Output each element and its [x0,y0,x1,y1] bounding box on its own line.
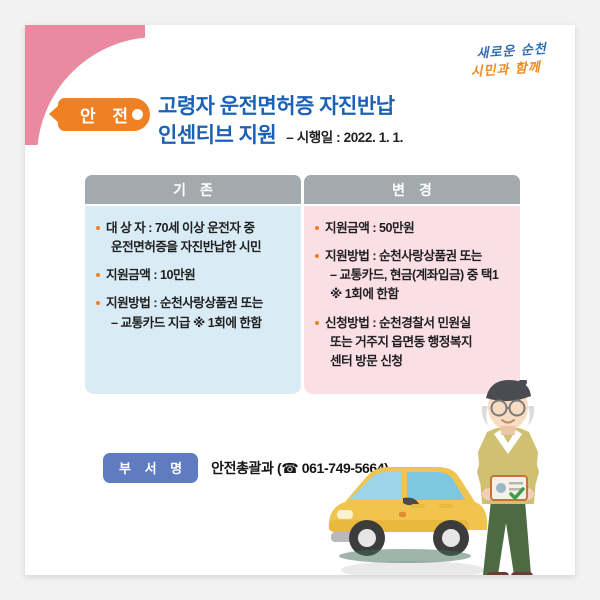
effective-date: – 시행일 : 2022. 1. 1. [286,126,403,146]
bullet-line: 지원방법 : 순천사랑상품권 또는 [106,296,263,310]
bullet-line: 지원금액 : 10만원 [106,268,195,282]
list-item: 대 상 자 : 70세 이상 운전자 중 운전면허증을 자진반납한 시민 [95,219,292,257]
person-icon [477,380,539,575]
city-slogan-logo: 새로운 순천 시민과 함께 [427,47,547,93]
bullet-line: 또는 거주지 읍면동 행정복지 [325,333,511,352]
list-item: 지원금액 : 10만원 [95,266,292,285]
changed-bullet-list: 지원금액 : 50만원 지원방법 : 순천사랑상품권 또는 – 교통카드, 현금… [314,219,511,371]
comparison-table: 기 존 변 경 대 상 자 : 70세 이상 운전자 중 운전면허증을 자진반납… [85,175,520,394]
page-title: 고령자 운전면허증 자진반납 인센티브 지원 – 시행일 : 2022. 1. … [158,93,558,152]
drivers-license-card-icon [491,476,527,500]
bullet-line: 운전면허증을 자진반납한 시민 [106,238,292,257]
bullet-line: 지원방법 : 순천사랑상품권 또는 [325,249,482,263]
bullet-line: – 교통카드 지급 ※ 1회에 한함 [106,314,292,333]
bullet-line: 지원금액 : 50만원 [325,221,414,235]
category-tag-safety: 안 전 [58,98,150,131]
bullet-line: ※ 1회에 한함 [325,285,511,304]
list-item: 지원금액 : 50만원 [314,219,511,238]
list-item: 신청방법 : 순천경찰서 민원실 또는 거주지 읍면동 행정복지 센터 방문 신… [314,314,511,371]
department-badge: 부 서 명 [103,453,198,483]
list-item: 지원방법 : 순천사랑상품권 또는 – 교통카드 지급 ※ 1회에 한함 [95,294,292,332]
info-card: 새로운 순천 시민과 함께 안 전 고령자 운전면허증 자진반납 인센티브 지원… [25,25,575,575]
panel-changed: 지원금액 : 50만원 지원방법 : 순천사랑상품권 또는 – 교통카드, 현금… [304,206,520,394]
table-header-row: 기 존 변 경 [85,175,520,204]
list-item: 지원방법 : 순천사랑상품권 또는 – 교통카드, 현금(계좌입금) 중 택1 … [314,247,511,304]
title-line-1: 고령자 운전면허증 자진반납 [158,93,558,121]
headlight-icon [337,510,353,519]
column-header-existing: 기 존 [85,175,301,204]
car-shadow-icon [341,561,485,575]
illustration-senior-and-car [295,380,575,575]
bullet-line: 센터 방문 신청 [325,352,511,371]
bullet-line: 신청방법 : 순천경찰서 민원실 [325,316,471,330]
panel-existing: 대 상 자 : 70세 이상 운전자 중 운전면허증을 자진반납한 시민 지원금… [85,206,301,394]
existing-bullet-list: 대 상 자 : 70세 이상 운전자 중 운전면허증을 자진반납한 시민 지원금… [95,219,292,333]
title-line-2: 인센티브 지원 [158,121,276,151]
bullet-line: 대 상 자 : 70세 이상 운전자 중 [106,221,255,235]
table-body-row: 대 상 자 : 70세 이상 운전자 중 운전면허증을 자진반납한 시민 지원금… [85,206,520,394]
column-header-changed: 변 경 [304,175,520,204]
car-icon [329,467,487,563]
bullet-line: – 교통카드, 현금(계좌입금) 중 택1 [325,266,511,285]
